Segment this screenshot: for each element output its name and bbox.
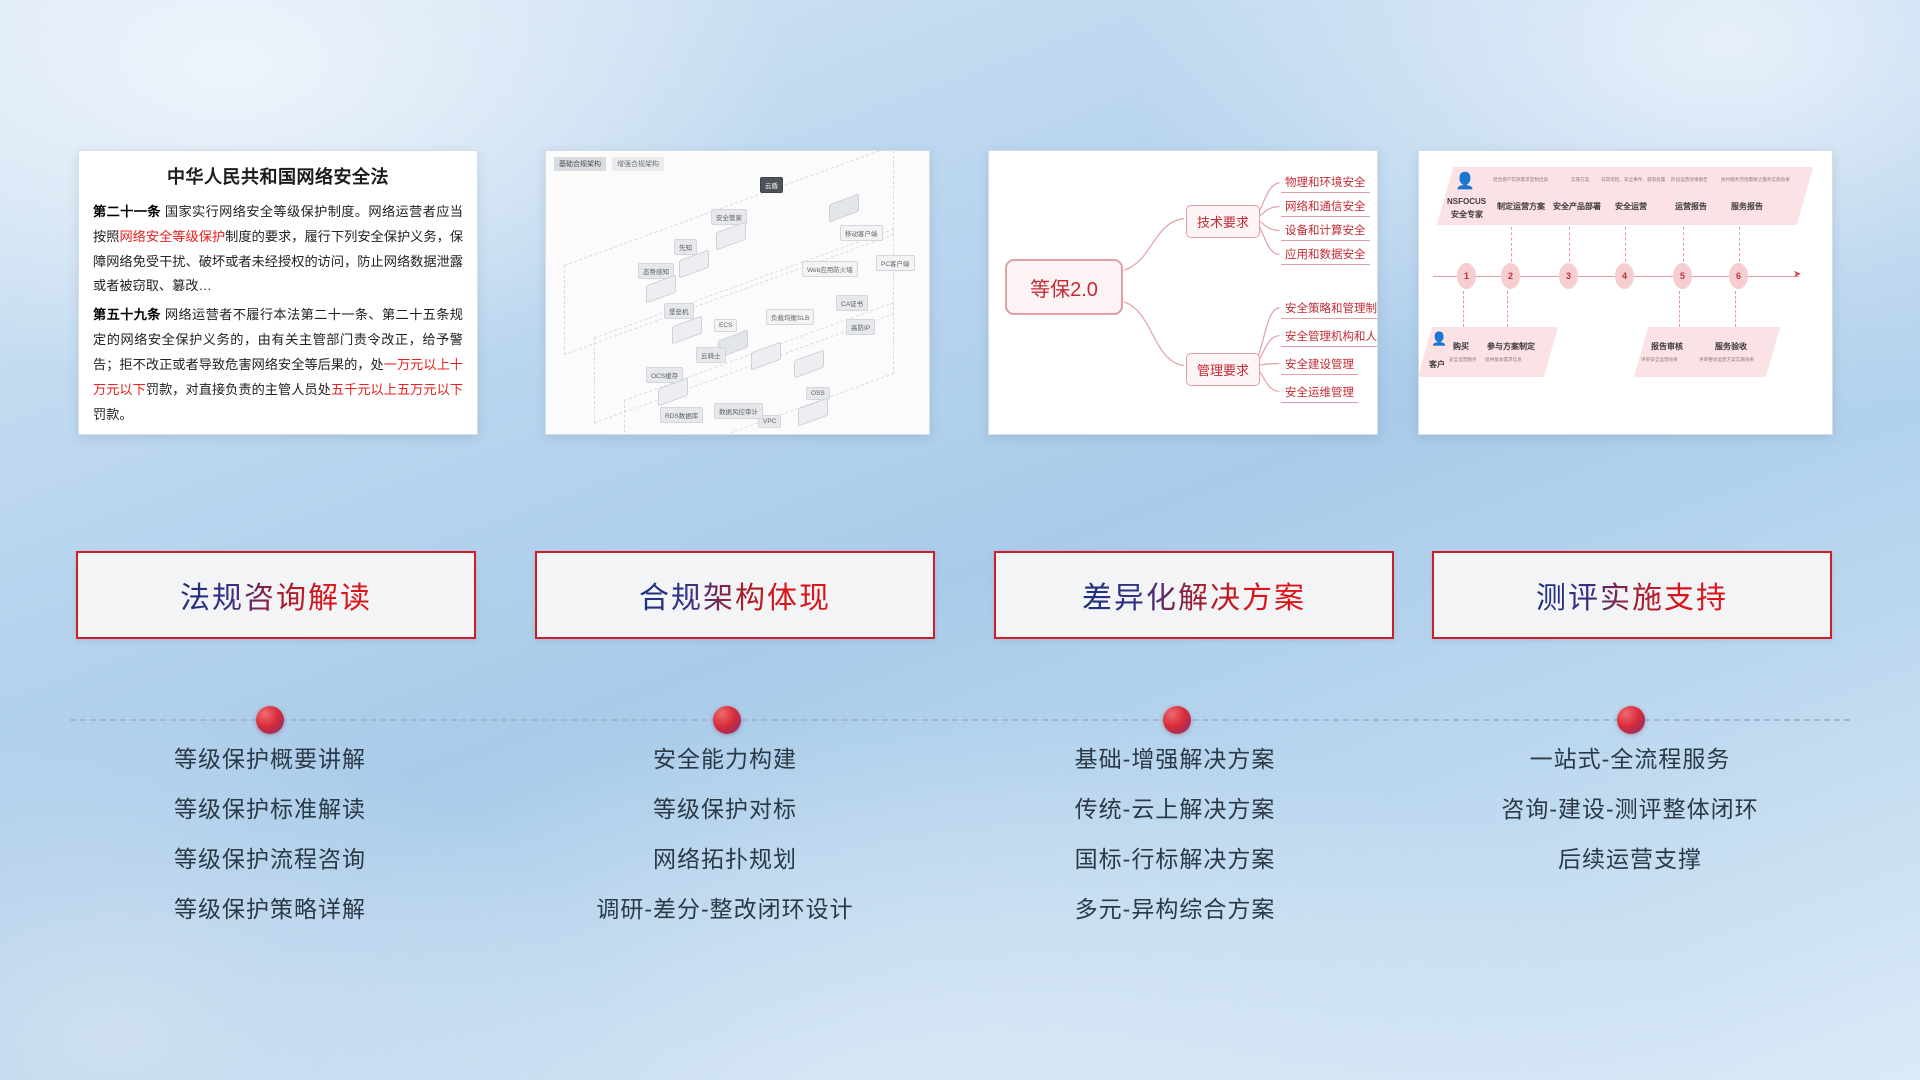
band-customer-right: [1634, 327, 1780, 377]
dash-up-3: [1569, 227, 1570, 267]
lower-step-2-main: 参与方案制定: [1487, 341, 1535, 352]
list-item: 多元-异构综合方案: [955, 898, 1395, 921]
axis-node-3: 3: [1559, 263, 1578, 289]
node-xianzhi: 先知: [674, 239, 697, 255]
mindmap-root: 等保2.0: [1005, 259, 1123, 315]
node-rds-db: RDS数据库: [660, 407, 703, 423]
list-item: 网络拓扑规划: [505, 848, 945, 871]
list-item: 安全能力构建: [505, 748, 945, 771]
timeline-dot-1[interactable]: [256, 706, 284, 734]
list-item: 等级保护标准解读: [50, 798, 490, 821]
article-21-label: 第二十一条: [93, 204, 161, 219]
mindmap-canvas: 等保2.0 技术要求 管理要求 物理和环境安全 网络和通信安全 设备和计算安全 …: [989, 151, 1377, 434]
upper-step-5-main: 服务报告: [1731, 201, 1763, 212]
detail-column-1: 等级保护概要讲解 等级保护标准解读 等级保护流程咨询 等级保护策略详解: [50, 748, 490, 948]
mindmap-leaf-construction-mgmt: 安全建设管理: [1281, 355, 1358, 375]
title-box-assessment-support[interactable]: 测评实施支持: [1432, 551, 1832, 639]
node-bastion-host: 堡垒机: [664, 303, 694, 319]
axis-node-1: 1: [1457, 263, 1476, 289]
upper-step-2-sub: 实施方案: [1571, 177, 1589, 183]
list-item: 等级保护策略详解: [50, 898, 490, 921]
lower-step-2-sub: 提供基本需求信息: [1485, 357, 1522, 363]
axis-node-4: 4: [1615, 263, 1634, 289]
node-anti-ddos-ip: 高防IP: [846, 319, 875, 335]
timeline-dot-2[interactable]: [713, 706, 741, 734]
list-item: 调研-差分-整改闭环设计: [505, 898, 945, 921]
process-canvas: 👤 NSFOCUS 安全专家 结合客户实际需求定制出具 制定运营方案 实施方案 …: [1419, 151, 1832, 434]
customer-label: 客户: [1429, 359, 1445, 370]
node-slb: 负载均衡SLB: [766, 309, 814, 325]
list-item: 等级保护概要讲解: [50, 748, 490, 771]
expert-avatar-icon: 👤: [1455, 171, 1475, 191]
dash-up-4: [1625, 227, 1626, 267]
mindmap-leaf-app-data: 应用和数据安全: [1281, 245, 1370, 265]
dash-down-2: [1507, 291, 1508, 327]
dash-up-5: [1683, 227, 1684, 267]
article-21-highlight: 网络安全等级保护: [119, 229, 225, 244]
node-risk-audit: 数据风控审计: [714, 403, 763, 419]
dash-down-6: [1735, 291, 1736, 327]
article-59-text-c: 罚款。: [93, 407, 133, 422]
node-pc-client: PC客户端: [876, 255, 915, 271]
mindmap-branch-management: 管理要求: [1186, 353, 1260, 386]
dash-up-2: [1511, 227, 1512, 267]
cards-row: 中华人民共和国网络安全法 第二十一条 国家实行网络安全等级保护制度。网络运营者应…: [0, 150, 1920, 450]
title-boxes-row: 法规咨询解读 合规架构体现 差异化解决方案 测评实施支持: [0, 551, 1920, 651]
mindmap-branch-technical: 技术要求: [1186, 205, 1260, 238]
list-item: 基础-增强解决方案: [955, 748, 1395, 771]
upper-step-3-sub: 日常巡检、安全事件、漏洞处置: [1601, 177, 1665, 183]
band-expert: [1437, 167, 1814, 225]
mindmap-leaf-network-comm: 网络和通信安全: [1281, 197, 1370, 217]
article-59-label: 第五十九条: [93, 307, 161, 322]
expert-label-line2: 安全专家: [1451, 209, 1483, 220]
upper-step-1-main: 制定运营方案: [1497, 201, 1545, 212]
mindmap-leaf-policy-system: 安全策略和管理制度: [1281, 299, 1378, 319]
dash-up-6: [1739, 227, 1740, 267]
upper-step-5-sub: 依约服务范围需要之服务实施效果: [1721, 177, 1790, 183]
node-ecs: ECS: [714, 319, 737, 332]
mindmap-leaf-physical-env: 物理和环境安全: [1281, 173, 1370, 193]
law-body: 中华人民共和国网络安全法 第二十一条 国家实行网络安全等级保护制度。网络运营者应…: [79, 151, 477, 427]
card-architecture-diagram[interactable]: 基础合规架构 增强合规架构 云盾 安全管家 先知 态势感知 移动客户端 PC客户…: [545, 150, 930, 435]
list-item: 国标-行标解决方案: [955, 848, 1395, 871]
axis-arrow-icon: ➤: [1793, 269, 1801, 280]
architecture-tabs: 基础合规架构 增强合规架构: [554, 157, 664, 171]
list-item: 一站式-全流程服务: [1410, 748, 1850, 771]
mindmap-leaf-device-compute: 设备和计算安全: [1281, 221, 1370, 241]
lower-step-1-sub: 安全运营服务: [1449, 357, 1477, 363]
upper-step-1-sub: 结合客户实际需求定制出具: [1493, 177, 1548, 183]
upper-step-4-main: 运营报告: [1675, 201, 1707, 212]
slide-root: 中华人民共和国网络安全法 第二十一条 国家实行网络安全等级保护制度。网络运营者应…: [0, 0, 1920, 1080]
dash-down-1: [1463, 291, 1464, 327]
list-item: 等级保护流程咨询: [50, 848, 490, 871]
timeline-dashed-line: [70, 719, 1850, 721]
lower-step-3-sub: 评审安全运营效果: [1641, 357, 1678, 363]
mindmap-leaf-org-people: 安全管理机构和人员: [1281, 327, 1378, 347]
node-yundun: 云盾: [760, 177, 783, 193]
article-59-highlight-2: 五千元以上五万元以下: [331, 382, 463, 397]
law-article-59: 第五十九条 网络运营者不履行本法第二十一条、第二十五条规定的网络安全保护义务的，…: [93, 303, 463, 427]
architecture-canvas: 基础合规架构 增强合规架构 云盾 安全管家 先知 态势感知 移动客户端 PC客户…: [546, 151, 929, 434]
title-label-1: 法规咨询解读: [180, 573, 372, 617]
node-ca-cert: CA证书: [836, 295, 868, 311]
node-cloud-knight: 云骑士: [696, 347, 726, 363]
lower-step-4-main: 服务验收: [1715, 341, 1747, 352]
card-law-text[interactable]: 中华人民共和国网络安全法 第二十一条 国家实行网络安全等级保护制度。网络运营者应…: [78, 150, 478, 435]
detail-column-2: 安全能力构建 等级保护对标 网络拓扑规划 调研-差分-整改闭环设计: [505, 748, 945, 948]
expert-label-line1: NSFOCUS: [1447, 197, 1486, 206]
list-item: 咨询-建设-测评整体闭环: [1410, 798, 1850, 821]
upper-step-4-sub: 阶段运营效果报告: [1671, 177, 1708, 183]
node-mobile-client: 移动客户端: [840, 225, 883, 241]
list-item: 等级保护对标: [505, 798, 945, 821]
axis-node-6: 6: [1729, 263, 1748, 289]
timeline: [0, 700, 1920, 740]
node-waf: Web应用防火墙: [802, 261, 858, 277]
upper-step-3-main: 安全运营: [1615, 201, 1647, 212]
timeline-dot-3[interactable]: [1163, 706, 1191, 734]
tab-basic-compliance[interactable]: 基础合规架构: [554, 157, 606, 171]
detail-column-4: 一站式-全流程服务 咨询-建设-测评整体闭环 后续运营支撑: [1410, 748, 1850, 898]
axis-node-5: 5: [1673, 263, 1692, 289]
lower-step-1-main: 购买: [1453, 341, 1469, 352]
customer-avatar-icon: 👤: [1431, 331, 1447, 347]
detail-column-3: 基础-增强解决方案 传统-云上解决方案 国标-行标解决方案 多元-异构综合方案: [955, 748, 1395, 948]
timeline-dot-4[interactable]: [1617, 706, 1645, 734]
list-item: 后续运营支撑: [1410, 848, 1850, 871]
lower-step-3-main: 报告审核: [1651, 341, 1683, 352]
dash-down-5: [1679, 291, 1680, 327]
tab-enhanced-compliance[interactable]: 增强合规架构: [612, 157, 664, 171]
law-article-21: 第二十一条 国家实行网络安全等级保护制度。网络运营者应当按照网络安全等级保护制度…: [93, 200, 463, 299]
mindmap-leaf-ops-mgmt: 安全运维管理: [1281, 383, 1358, 403]
title-box-regulation-consulting[interactable]: 法规咨询解读: [76, 551, 476, 639]
lower-step-4-sub: 评审整体运营方案实施效果: [1699, 357, 1754, 363]
upper-step-2-main: 安全产品部署: [1553, 201, 1601, 212]
detail-columns: 等级保护概要讲解 等级保护标准解读 等级保护流程咨询 等级保护策略详解 安全能力…: [0, 748, 1920, 968]
title-box-compliance-architecture[interactable]: 合规架构体现: [535, 551, 935, 639]
title-box-differentiated-solution[interactable]: 差异化解决方案: [994, 551, 1394, 639]
card-mindmap[interactable]: 等保2.0 技术要求 管理要求 物理和环境安全 网络和通信安全 设备和计算安全 …: [988, 150, 1378, 435]
axis-node-2: 2: [1501, 263, 1520, 289]
title-label-3: 差异化解决方案: [1082, 573, 1306, 617]
article-59-text-b: 罚款，对直接负责的主管人员处: [146, 382, 331, 397]
law-title: 中华人民共和国网络安全法: [93, 163, 463, 189]
list-item: 传统-云上解决方案: [955, 798, 1395, 821]
title-label-2: 合规架构体现: [639, 573, 831, 617]
title-label-4: 测评实施支持: [1536, 573, 1728, 617]
card-process-timeline[interactable]: 👤 NSFOCUS 安全专家 结合客户实际需求定制出具 制定运营方案 实施方案 …: [1418, 150, 1833, 435]
